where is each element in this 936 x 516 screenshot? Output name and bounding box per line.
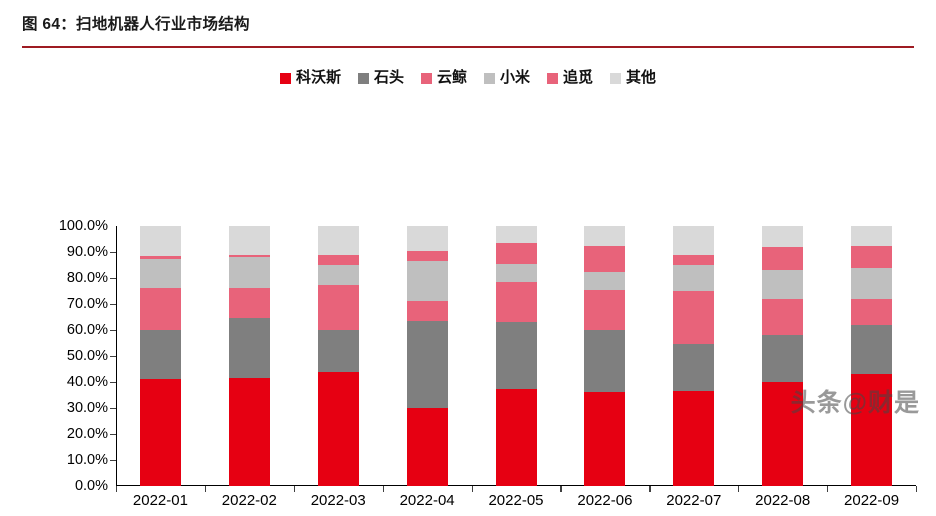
y-axis-tick (110, 278, 116, 279)
bar-segment-0[interactable] (318, 372, 359, 486)
y-tick-label: 60.0% (34, 323, 108, 337)
y-axis-tick (110, 330, 116, 331)
stacked-bar[interactable] (496, 226, 537, 486)
stacked-bar[interactable] (762, 226, 803, 486)
bar-slot (649, 226, 738, 486)
y-axis-tick (110, 382, 116, 383)
bar-slot (827, 226, 916, 486)
y-tick-label: 0.0% (34, 479, 108, 493)
y-axis-tick (110, 408, 116, 409)
bar-segment-1[interactable] (762, 335, 803, 382)
bar-segment-1[interactable] (851, 325, 892, 374)
legend-swatch-icon (358, 73, 369, 84)
legend-item-1[interactable]: 石头 (358, 70, 404, 86)
page-title: 图 64：扫地机器人行业市场结构 (22, 14, 914, 36)
legend-item-0[interactable]: 科沃斯 (280, 70, 341, 86)
legend-label: 小米 (500, 70, 530, 86)
title-divider (22, 46, 914, 49)
bar-slot (738, 226, 827, 486)
stacked-bar[interactable] (318, 226, 359, 486)
stacked-bar[interactable] (584, 226, 625, 486)
bar-segment-3[interactable] (762, 270, 803, 299)
bar-segment-0[interactable] (140, 379, 181, 486)
y-axis-tick-labels: 0.0%10.0%20.0%30.0%40.0%50.0%60.0%70.0%8… (34, 220, 108, 482)
legend-label: 科沃斯 (296, 70, 341, 86)
legend-swatch-icon (547, 73, 558, 84)
bar-segment-2[interactable] (673, 291, 714, 344)
figure-header: 图 64：扫地机器人行业市场结构 (22, 14, 914, 48)
bar-segment-4[interactable] (673, 255, 714, 265)
legend-label: 追觅 (563, 70, 593, 86)
bar-segment-4[interactable] (762, 247, 803, 270)
legend-item-5[interactable]: 其他 (610, 70, 656, 86)
y-axis-tick (110, 252, 116, 253)
bar-segment-0[interactable] (496, 389, 537, 487)
bar-slot (116, 226, 205, 486)
x-tick-label: 2022-06 (560, 490, 649, 516)
stacked-bar[interactable] (140, 226, 181, 486)
bar-segment-4[interactable] (229, 255, 270, 258)
x-tick-label: 2022-05 (472, 490, 561, 516)
y-axis-tick (110, 434, 116, 435)
y-tick-label: 30.0% (34, 401, 108, 415)
bar-segment-3[interactable] (140, 259, 181, 289)
bar-segment-2[interactable] (140, 288, 181, 330)
legend-swatch-icon (610, 73, 621, 84)
bar-segment-0[interactable] (407, 408, 448, 486)
bar-slot (560, 226, 649, 486)
y-axis-tick (110, 460, 116, 461)
y-tick-label: 70.0% (34, 297, 108, 311)
bar-segment-3[interactable] (673, 265, 714, 291)
x-tick-label: 2022-08 (738, 490, 827, 516)
x-axis-tick (916, 486, 917, 492)
legend-item-4[interactable]: 追觅 (547, 70, 593, 86)
bar-segment-5[interactable] (140, 226, 181, 256)
bar-segment-3[interactable] (318, 265, 359, 285)
x-tick-label: 2022-09 (827, 490, 916, 516)
stacked-bar[interactable] (673, 226, 714, 486)
bar-segment-4[interactable] (496, 243, 537, 264)
legend-swatch-icon (484, 73, 495, 84)
bar-segment-2[interactable] (851, 299, 892, 325)
x-tick-label: 2022-04 (383, 490, 472, 516)
legend-label: 其他 (626, 70, 656, 86)
legend-item-2[interactable]: 云鲸 (421, 70, 467, 86)
bar-segment-1[interactable] (407, 321, 448, 408)
bar-segment-4[interactable] (318, 255, 359, 265)
bar-segment-3[interactable] (229, 257, 270, 288)
bar-slot (205, 226, 294, 486)
bar-segment-0[interactable] (762, 382, 803, 486)
bar-slot (472, 226, 561, 486)
bar-segment-1[interactable] (496, 322, 537, 388)
bar-segment-5[interactable] (762, 226, 803, 247)
x-tick-label: 2022-02 (205, 490, 294, 516)
bar-segment-4[interactable] (584, 246, 625, 272)
bar-segment-3[interactable] (407, 261, 448, 301)
x-axis-tick-labels: 2022-012022-022022-032022-042022-052022-… (116, 490, 916, 516)
y-tick-label: 20.0% (34, 427, 108, 441)
bar-segment-3[interactable] (851, 268, 892, 299)
stacked-bar[interactable] (229, 226, 270, 486)
bar-segment-4[interactable] (140, 256, 181, 259)
bar-segment-2[interactable] (496, 282, 537, 322)
bar-slot (383, 226, 472, 486)
bar-segment-1[interactable] (318, 330, 359, 372)
y-tick-label: 100.0% (34, 219, 108, 233)
bar-segment-4[interactable] (851, 246, 892, 268)
bar-segment-4[interactable] (407, 251, 448, 261)
legend-label: 云鲸 (437, 70, 467, 86)
bar-segment-0[interactable] (673, 391, 714, 486)
bar-segment-2[interactable] (229, 288, 270, 318)
bar-segment-0[interactable] (851, 374, 892, 486)
bar-segment-2[interactable] (318, 285, 359, 331)
y-tick-label: 40.0% (34, 375, 108, 389)
x-tick-label: 2022-03 (294, 490, 383, 516)
bar-segment-5[interactable] (584, 226, 625, 246)
bar-segment-2[interactable] (584, 290, 625, 330)
chart-legend: 科沃斯石头云鲸小米追觅其他 (0, 70, 936, 86)
bar-segment-2[interactable] (762, 299, 803, 335)
chart-plot-area: 0.0%10.0%20.0%30.0%40.0%50.0%60.0%70.0%8… (0, 108, 936, 398)
bar-segment-5[interactable] (407, 226, 448, 251)
y-axis-tick (110, 304, 116, 305)
bar-segment-1[interactable] (584, 330, 625, 392)
x-tick-label: 2022-01 (116, 490, 205, 516)
y-axis-tick (110, 356, 116, 357)
bar-segment-3[interactable] (496, 264, 537, 282)
stacked-bar[interactable] (851, 226, 892, 486)
legend-swatch-icon (280, 73, 291, 84)
y-tick-label: 10.0% (34, 453, 108, 467)
bar-segment-5[interactable] (318, 226, 359, 255)
bar-segment-5[interactable] (229, 226, 270, 255)
bar-segment-2[interactable] (407, 301, 448, 321)
bar-segment-1[interactable] (140, 330, 181, 379)
y-tick-label: 80.0% (34, 271, 108, 285)
x-tick-label: 2022-07 (649, 490, 738, 516)
bar-segment-5[interactable] (851, 226, 892, 246)
bar-segment-0[interactable] (229, 378, 270, 486)
bar-segment-5[interactable] (673, 226, 714, 255)
plot-frame (116, 226, 916, 486)
y-tick-label: 90.0% (34, 245, 108, 259)
stacked-bars-layer (116, 226, 916, 486)
y-tick-label: 50.0% (34, 349, 108, 363)
bar-segment-1[interactable] (229, 318, 270, 378)
bar-segment-1[interactable] (673, 344, 714, 391)
legend-item-3[interactable]: 小米 (484, 70, 530, 86)
legend-swatch-icon (421, 73, 432, 84)
stacked-bar[interactable] (407, 226, 448, 486)
bar-segment-5[interactable] (496, 226, 537, 243)
bar-segment-3[interactable] (584, 272, 625, 290)
legend-label: 石头 (374, 70, 404, 86)
bar-slot (294, 226, 383, 486)
bar-segment-0[interactable] (584, 392, 625, 486)
